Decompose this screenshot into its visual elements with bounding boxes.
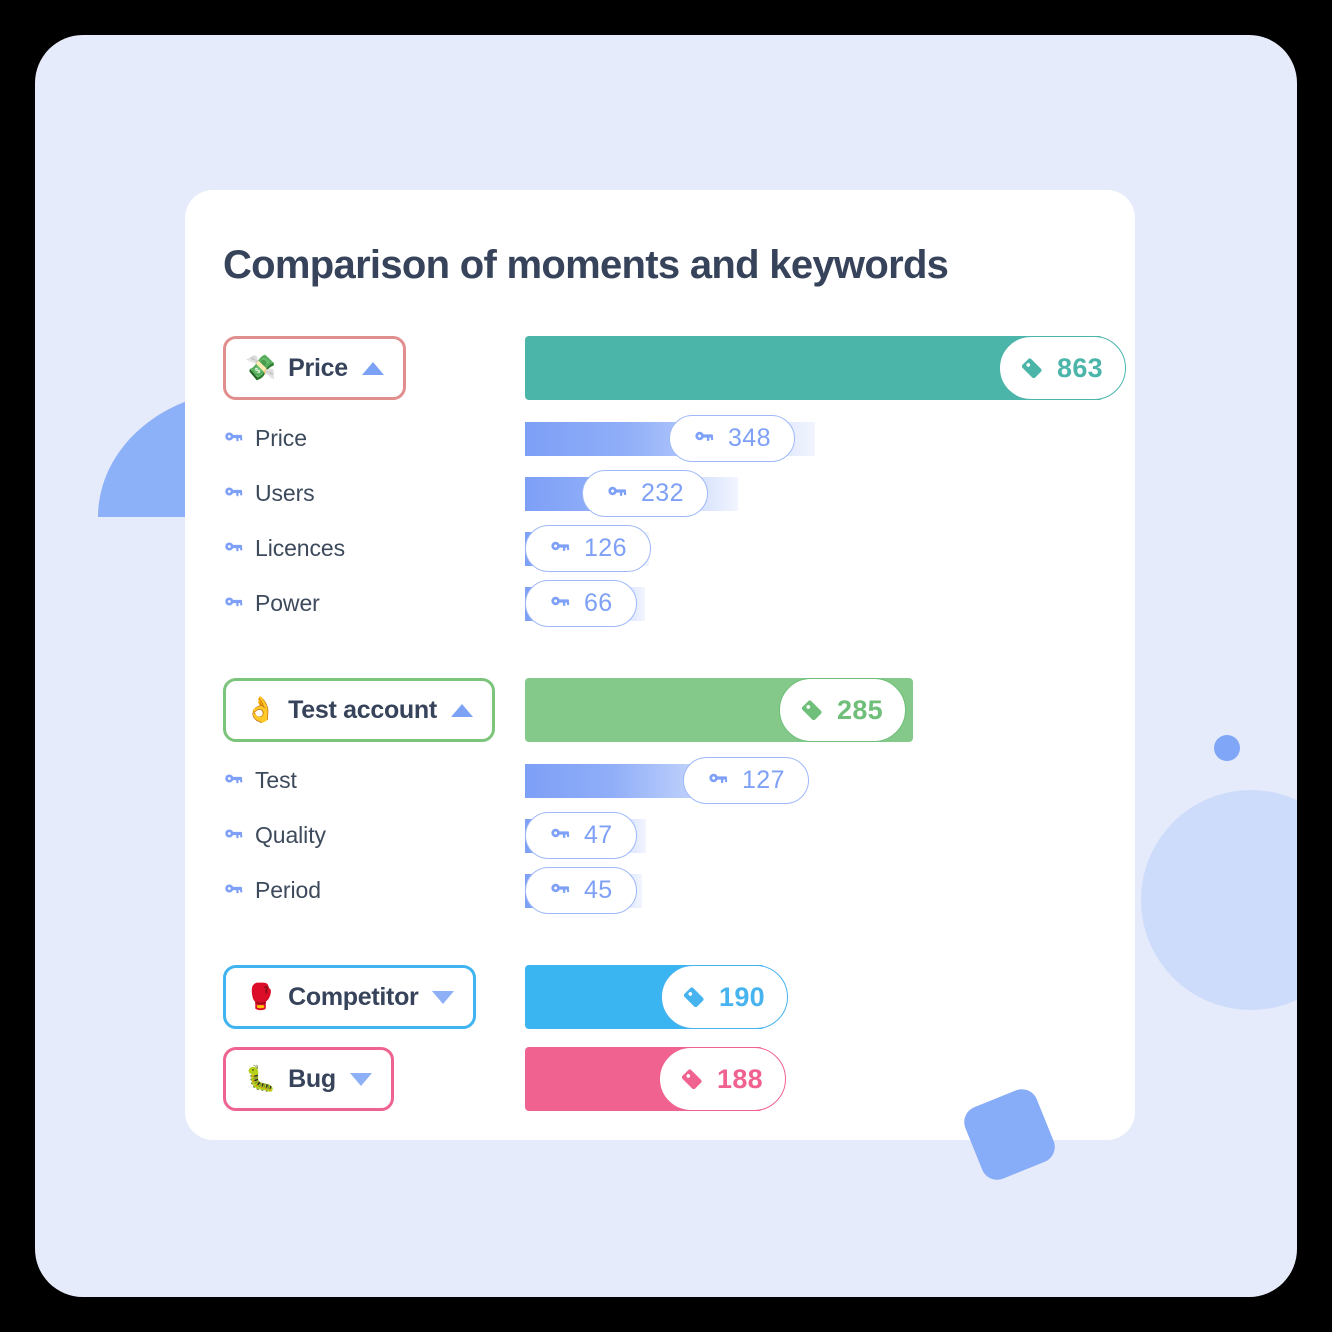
moment-chip-price[interactable]: 💸Price xyxy=(223,336,406,400)
key-icon xyxy=(223,536,244,562)
decorative-panel: Comparison of moments and keywords 💸Pric… xyxy=(35,35,1297,1297)
tag-icon xyxy=(802,695,827,725)
moment-label: Bug xyxy=(288,1065,336,1094)
moment-value: 285 xyxy=(837,695,883,726)
keyword-label-group[interactable]: Price xyxy=(223,411,307,466)
keyword-label-group[interactable]: Quality xyxy=(223,808,326,863)
decorative-small-dot xyxy=(1214,735,1240,761)
moment-chip-bug[interactable]: 🐛Bug xyxy=(223,1047,394,1111)
moment-value-badge: 285 xyxy=(779,678,906,742)
comparison-chart: 💸Price 863 Price 348 Users xyxy=(185,329,1135,1122)
keyword-value-badge: 348 xyxy=(669,415,795,462)
keyword-label-group[interactable]: Test xyxy=(223,753,297,808)
keyword-label: Users xyxy=(255,480,315,507)
keyword-value: 232 xyxy=(641,479,684,508)
key-icon xyxy=(549,535,571,562)
key-icon xyxy=(693,425,715,452)
caret-down-icon[interactable] xyxy=(432,991,454,1004)
keyword-row: Price 348 xyxy=(185,411,1135,466)
key-icon xyxy=(549,822,571,849)
money-with-wings-emoji: 💸 xyxy=(245,356,276,381)
boxing-glove-emoji: 🥊 xyxy=(245,985,276,1010)
caterpillar-bug-emoji: 🐛 xyxy=(245,1067,276,1092)
keyword-row: Period 45 xyxy=(185,863,1135,918)
keyword-bar-zone: 45 xyxy=(525,863,1135,918)
key-icon xyxy=(549,877,571,904)
keyword-value-badge: 47 xyxy=(525,812,637,859)
keyword-label: Test xyxy=(255,767,297,794)
caret-up-icon[interactable] xyxy=(362,362,384,375)
caret-down-icon[interactable] xyxy=(350,1073,372,1086)
moment-value: 190 xyxy=(719,982,765,1013)
keyword-row: Licences 126 xyxy=(185,521,1135,576)
key-icon xyxy=(606,480,628,507)
key-icon xyxy=(549,590,571,617)
keyword-row: Quality 47 xyxy=(185,808,1135,863)
keyword-bar-zone: 66 xyxy=(525,576,1135,631)
ok-hand-emoji: 👌 xyxy=(245,698,276,723)
keyword-label: Power xyxy=(255,590,320,617)
keyword-row: Power 66 xyxy=(185,576,1135,631)
keyword-row: Users 232 xyxy=(185,466,1135,521)
group-spacer xyxy=(185,918,1135,958)
moment-row: 👌Test account 285 xyxy=(185,671,1135,749)
keyword-label: Price xyxy=(255,425,307,452)
moment-group: 👌Test account 285 Test 127 xyxy=(185,671,1135,918)
keyword-label: Licences xyxy=(255,535,345,562)
moment-label: Test account xyxy=(288,696,437,725)
moment-bar-zone: 863 xyxy=(525,336,1135,400)
moment-group: 💸Price 863 Price 348 Users xyxy=(185,329,1135,631)
caret-up-icon[interactable] xyxy=(451,704,473,717)
keyword-value-badge: 232 xyxy=(582,470,708,517)
keyword-label: Quality xyxy=(255,822,326,849)
moment-bar-zone: 190 xyxy=(525,965,1135,1029)
tag-icon xyxy=(684,982,709,1012)
keyword-value: 45 xyxy=(584,876,613,905)
keyword-row: Test 127 xyxy=(185,753,1135,808)
keyword-label-group[interactable]: Licences xyxy=(223,521,345,576)
moment-value: 188 xyxy=(717,1064,763,1095)
group-spacer xyxy=(185,631,1135,671)
moment-bar-zone: 285 xyxy=(525,678,1135,742)
keyword-bar-zone: 47 xyxy=(525,808,1135,863)
key-icon xyxy=(223,823,244,849)
decorative-large-circle xyxy=(1141,790,1297,1010)
keyword-value: 348 xyxy=(728,424,771,453)
keyword-bar-zone: 348 xyxy=(525,411,1135,466)
keyword-value-badge: 127 xyxy=(683,757,809,804)
keyword-value: 47 xyxy=(584,821,613,850)
tag-icon xyxy=(682,1064,707,1094)
keyword-label-group[interactable]: Period xyxy=(223,863,321,918)
keyword-value-badge: 126 xyxy=(525,525,651,572)
keyword-value: 66 xyxy=(584,589,613,618)
keyword-value-badge: 45 xyxy=(525,867,637,914)
moment-label: Price xyxy=(288,354,348,383)
keyword-bar-zone: 232 xyxy=(525,466,1135,521)
keyword-value: 127 xyxy=(742,766,785,795)
key-icon xyxy=(223,768,244,794)
key-icon xyxy=(223,426,244,452)
moment-chip-test-account[interactable]: 👌Test account xyxy=(223,678,495,742)
keyword-label-group[interactable]: Users xyxy=(223,466,315,521)
moment-value: 863 xyxy=(1057,353,1103,384)
key-icon xyxy=(223,481,244,507)
comparison-card: Comparison of moments and keywords 💸Pric… xyxy=(185,190,1135,1140)
keyword-value-badge: 66 xyxy=(525,580,637,627)
moment-group: 🥊Competitor 190 xyxy=(185,958,1135,1036)
moment-row: 🥊Competitor 190 xyxy=(185,958,1135,1036)
moment-value-badge: 863 xyxy=(999,336,1126,400)
moment-row: 💸Price 863 xyxy=(185,329,1135,407)
key-icon xyxy=(223,878,244,904)
moment-bar-zone: 188 xyxy=(525,1047,1135,1111)
keyword-label: Period xyxy=(255,877,321,904)
moment-value-badge: 190 xyxy=(661,965,788,1029)
keyword-bar-zone: 126 xyxy=(525,521,1135,576)
keyword-label-group[interactable]: Power xyxy=(223,576,320,631)
page-title: Comparison of moments and keywords xyxy=(223,243,948,288)
moment-value-badge: 188 xyxy=(659,1047,786,1111)
key-icon xyxy=(707,767,729,794)
tag-icon xyxy=(1022,353,1047,383)
moment-label: Competitor xyxy=(288,983,418,1012)
key-icon xyxy=(223,591,244,617)
keyword-bar-zone: 127 xyxy=(525,753,1135,808)
moment-chip-competitor[interactable]: 🥊Competitor xyxy=(223,965,476,1029)
keyword-value: 126 xyxy=(584,534,627,563)
